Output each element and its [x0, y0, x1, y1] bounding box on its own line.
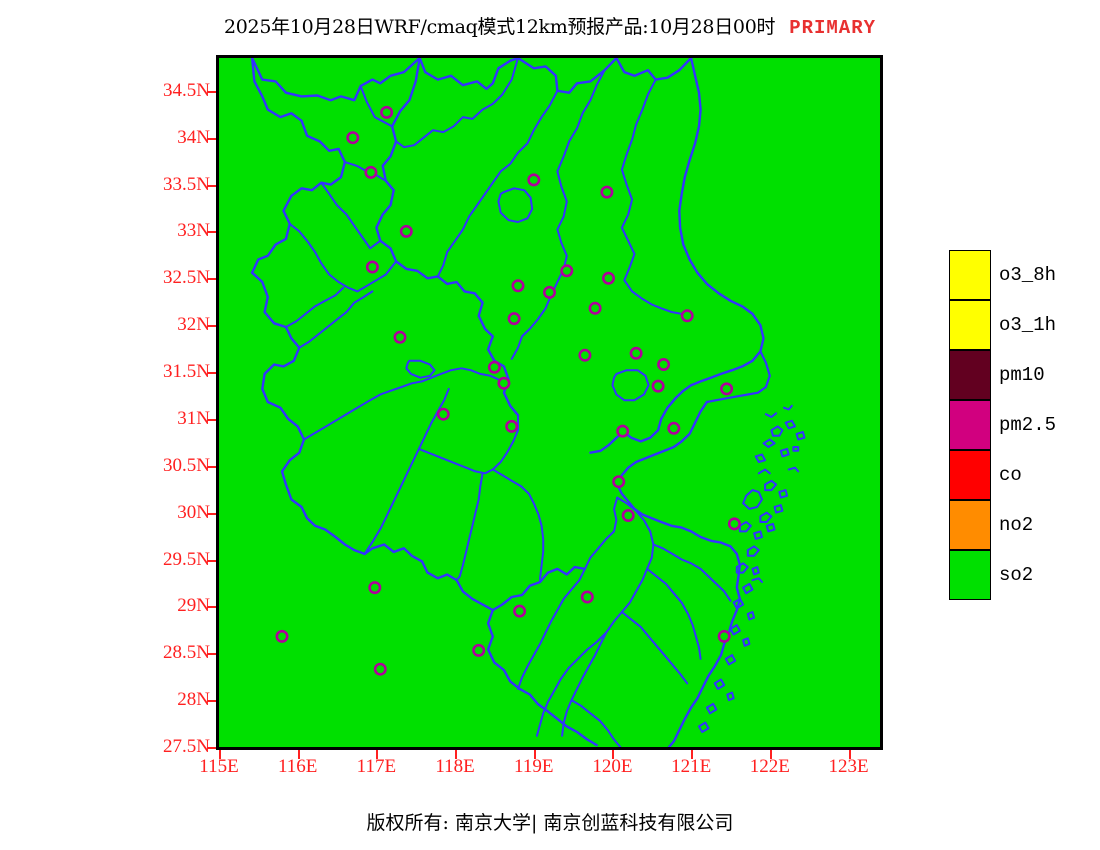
administrative-boundary — [748, 612, 754, 620]
station-marker[interactable] — [562, 266, 572, 276]
station-marker[interactable] — [370, 582, 380, 592]
station-marker[interactable] — [682, 311, 692, 321]
administrative-boundary — [617, 402, 740, 747]
legend-label: so2 — [999, 564, 1033, 586]
latitude-tick-label: 32.5N — [163, 267, 210, 289]
administrative-boundary — [764, 440, 775, 448]
station-marker[interactable] — [509, 313, 519, 323]
station-marker[interactable] — [375, 664, 385, 674]
legend-item-o3-1h[interactable]: o3_1h — [949, 300, 1099, 350]
administrative-boundary — [585, 498, 617, 569]
station-marker[interactable] — [395, 332, 405, 342]
latitude-tick-label: 31.5N — [163, 361, 210, 383]
latitude-tick-mark — [207, 700, 216, 702]
administrative-boundary — [743, 638, 749, 646]
station-marker[interactable] — [729, 519, 739, 529]
administrative-boundary — [562, 498, 653, 736]
administrative-boundary — [616, 58, 691, 80]
latitude-tick-label: 30N — [177, 502, 210, 524]
legend-color-swatch — [949, 300, 991, 350]
longitude-tick-label: 121E — [671, 756, 711, 778]
administrative-boundary — [679, 58, 763, 385]
administrative-boundary — [406, 361, 434, 378]
station-marker[interactable] — [489, 362, 499, 372]
legend-item-co[interactable]: co — [949, 450, 1099, 500]
longitude-tick-label: 123E — [828, 756, 868, 778]
longitude-tick-label: 120E — [592, 756, 632, 778]
administrative-boundary — [797, 432, 805, 440]
longitude-tick-label: 117E — [357, 756, 396, 778]
administrative-boundary — [457, 473, 483, 580]
map-vector-layer — [219, 58, 880, 747]
administrative-boundary — [488, 610, 597, 745]
station-marker[interactable] — [514, 606, 524, 616]
administrative-boundary — [784, 406, 792, 410]
administrative-boundary — [613, 370, 649, 400]
latitude-tick-mark — [207, 372, 216, 374]
station-marker[interactable] — [348, 133, 358, 143]
administrative-boundary — [786, 421, 795, 429]
station-marker[interactable] — [366, 167, 376, 177]
administrative-boundary — [537, 633, 606, 736]
station-marker[interactable] — [618, 426, 628, 436]
administrative-boundary — [756, 455, 765, 463]
administrative-boundary — [304, 368, 498, 439]
latitude-tick-label: 28N — [177, 689, 210, 711]
administrative-boundary — [766, 413, 776, 417]
legend-label: co — [999, 464, 1022, 486]
administrative-boundary — [793, 447, 798, 451]
legend-label: pm10 — [999, 364, 1045, 386]
administrative-boundary — [781, 449, 789, 457]
administrative-boundary — [420, 58, 518, 89]
station-marker[interactable] — [513, 281, 523, 291]
administrative-boundary — [365, 545, 493, 611]
administrative-boundary — [753, 578, 763, 582]
latitude-tick-mark — [207, 138, 216, 140]
administrative-boundary — [753, 567, 759, 575]
legend-label: o3_1h — [999, 314, 1056, 336]
administrative-boundary — [731, 625, 740, 634]
administrative-boundary — [727, 693, 733, 701]
latitude-tick-mark — [207, 653, 216, 655]
station-marker[interactable] — [603, 273, 613, 283]
copyright-footer: 版权所有: 南京大学| 南京创蓝科技有限公司 — [0, 808, 1100, 835]
administrative-boundary — [748, 546, 759, 555]
station-marker[interactable] — [623, 510, 633, 520]
administrative-boundary — [760, 513, 771, 522]
latitude-tick-mark — [207, 747, 216, 749]
administrative-boundary — [299, 291, 372, 347]
station-marker[interactable] — [580, 350, 590, 360]
administrative-boundary — [622, 612, 687, 683]
station-marker[interactable] — [631, 348, 641, 358]
administrative-boundary — [438, 91, 558, 277]
latitude-tick-mark — [207, 185, 216, 187]
station-marker[interactable] — [590, 303, 600, 313]
longitude-tick-label: 118E — [435, 756, 474, 778]
station-marker[interactable] — [401, 226, 411, 236]
latitude-tick-label: 29.5N — [163, 549, 210, 571]
administrative-boundary — [365, 389, 449, 554]
latitude-tick-mark — [207, 325, 216, 327]
administrative-boundary — [321, 183, 380, 249]
station-marker[interactable] — [277, 631, 287, 641]
legend-item-so2[interactable]: so2 — [949, 550, 1099, 600]
latitude-tick-mark — [207, 278, 216, 280]
latitude-tick-label: 33.5N — [163, 174, 210, 196]
station-marker[interactable] — [474, 645, 484, 655]
legend-item-pm10[interactable]: pm10 — [949, 350, 1099, 400]
administrative-boundary — [396, 58, 518, 147]
latitude-tick-label: 34.5N — [163, 80, 210, 102]
latitude-tick-mark — [207, 606, 216, 608]
administrative-boundary — [572, 700, 621, 747]
page-title-text: 2025年10月28日WRF/cmaq模式12km预报产品:10月28日00时 — [224, 16, 775, 38]
page-title: 2025年10月28日WRF/cmaq模式12km预报产品:10月28日00时P… — [0, 12, 1100, 39]
latitude-tick-mark — [207, 91, 216, 93]
latitude-tick-label: 33N — [177, 220, 210, 242]
station-marker[interactable] — [499, 378, 509, 388]
administrative-boundary — [512, 70, 605, 359]
latitude-tick-label: 28.5N — [163, 642, 210, 664]
administrative-boundary — [765, 481, 776, 490]
station-marker[interactable] — [653, 381, 663, 391]
latitude-tick-label: 30.5N — [163, 455, 210, 477]
latitude-tick-label: 29N — [177, 595, 210, 617]
administrative-boundary — [789, 468, 799, 472]
administrative-boundary — [493, 470, 543, 583]
station-marker[interactable] — [381, 107, 391, 117]
legend-color-swatch — [949, 550, 991, 600]
administrative-boundary — [779, 490, 787, 498]
station-marker[interactable] — [614, 477, 624, 487]
station-marker[interactable] — [582, 592, 592, 602]
pollutant-legend[interactable]: o3_8ho3_1hpm10pm2.5cono2so2 — [949, 250, 1099, 600]
legend-color-swatch — [949, 450, 991, 500]
administrative-boundary — [726, 655, 735, 664]
station-marker[interactable] — [721, 384, 731, 394]
longitude-tick-label: 122E — [750, 756, 790, 778]
legend-color-swatch — [949, 400, 991, 450]
station-marker[interactable] — [669, 423, 679, 433]
legend-color-swatch — [949, 350, 991, 400]
latitude-axis-labels: 27.5N28N28.5N29N29.5N30N30.5N31N31.5N32N… — [0, 55, 210, 750]
legend-label: pm2.5 — [999, 414, 1056, 436]
longitude-axis-labels: 115E116E117E118E119E120E121E122E123E — [0, 756, 1100, 786]
administrative-boundary — [759, 470, 770, 474]
longitude-tick-label: 119E — [514, 756, 553, 778]
administrative-boundary — [699, 723, 709, 732]
administrative-boundary — [754, 531, 762, 539]
legend-item-no2[interactable]: no2 — [949, 500, 1099, 550]
latitude-tick-mark — [207, 560, 216, 562]
legend-color-swatch — [949, 250, 991, 300]
latitude-tick-label: 31N — [177, 408, 210, 430]
map-canvas[interactable] — [216, 55, 883, 750]
station-marker[interactable] — [602, 187, 612, 197]
longitude-tick-label: 115E — [199, 756, 238, 778]
latitude-tick-mark — [207, 466, 216, 468]
longitude-tick-label: 116E — [278, 756, 317, 778]
administrative-boundary — [767, 524, 775, 532]
latitude-tick-mark — [207, 513, 216, 515]
administrative-boundary — [775, 505, 783, 512]
legend-item-pm2-5[interactable]: pm2.5 — [949, 400, 1099, 450]
station-marker[interactable] — [507, 421, 517, 431]
administrative-boundary — [707, 704, 716, 713]
station-marker[interactable] — [658, 359, 668, 369]
administrative-boundary — [771, 426, 782, 435]
station-marker[interactable] — [529, 175, 539, 185]
administrative-boundary — [740, 522, 751, 531]
administrative-boundary — [419, 415, 518, 473]
legend-color-swatch — [949, 500, 991, 550]
administrative-boundary — [498, 188, 532, 222]
legend-item-o3-8h[interactable]: o3_8h — [949, 250, 1099, 300]
administrative-boundary — [743, 490, 762, 509]
station-marker[interactable] — [438, 409, 448, 419]
administrative-boundary — [653, 545, 730, 601]
legend-label: no2 — [999, 514, 1033, 536]
administrative-boundary — [252, 58, 345, 273]
latitude-tick-mark — [207, 419, 216, 421]
forecast-map-page: 2025年10月28日WRF/cmaq模式12km预报产品:10月28日00时P… — [0, 0, 1100, 850]
station-marker[interactable] — [719, 631, 729, 641]
latitude-tick-label: 32N — [177, 314, 210, 336]
latitude-tick-mark — [207, 231, 216, 233]
administrative-boundary — [290, 224, 396, 292]
station-marker[interactable] — [544, 287, 554, 297]
administrative-boundary — [743, 584, 752, 593]
administrative-boundary — [252, 58, 420, 100]
legend-label: o3_8h — [999, 264, 1056, 286]
primary-pollutant-tag: PRIMARY — [789, 17, 876, 39]
administrative-boundary — [715, 680, 725, 689]
station-marker[interactable] — [367, 262, 377, 272]
latitude-tick-label: 34N — [177, 127, 210, 149]
